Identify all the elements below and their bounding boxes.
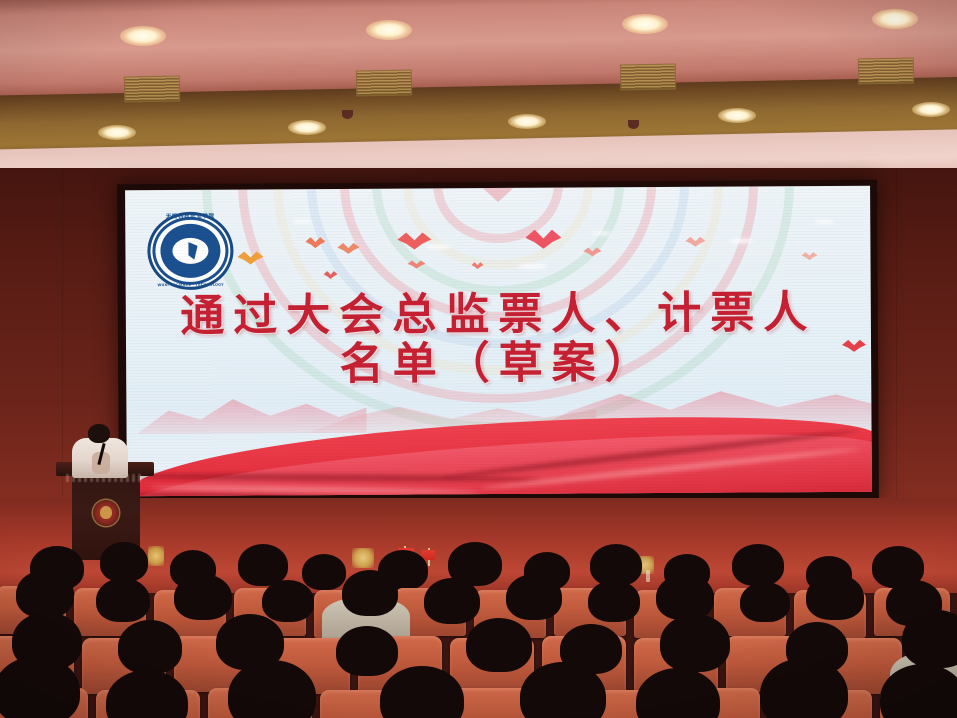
flying-dove-icon — [801, 252, 817, 260]
air-vent-grille — [620, 63, 676, 90]
seated-attendee — [466, 618, 532, 672]
cloud-wisp — [729, 238, 753, 243]
five-point-star-icon — [476, 186, 520, 202]
flying-dove-icon — [305, 237, 325, 248]
seated-attendee — [174, 574, 232, 620]
recessed-downlight — [622, 14, 668, 34]
presentation-slide: 无锡科技职业学院 WUXI · SCIENCE · TECHNOLOGY 通过大… — [125, 186, 872, 497]
recessed-downlight — [872, 9, 918, 29]
cloud-wisp — [518, 264, 548, 269]
cloud-wisp — [591, 231, 611, 235]
recessed-downlight — [120, 26, 166, 46]
cloud-wisp — [815, 220, 833, 224]
ceiling — [0, 0, 957, 182]
fire-sprinkler — [342, 110, 353, 119]
seated-attendee — [118, 620, 182, 674]
auditorium-scene: 无锡科技职业学院 WUXI · SCIENCE · TECHNOLOGY 通过大… — [0, 0, 957, 718]
audience-area — [0, 540, 957, 718]
flying-dove-icon — [324, 271, 338, 279]
seated-attendee — [806, 574, 864, 620]
flying-dove-icon — [337, 243, 359, 254]
air-vent-grille — [356, 69, 412, 96]
seated-attendee — [262, 580, 314, 622]
seated-attendee — [588, 580, 640, 622]
recessed-downlight — [718, 108, 756, 123]
air-vent-grille — [124, 75, 180, 102]
seated-attendee — [336, 626, 398, 676]
logo-bottom-text: WUXI · SCIENCE · TECHNOLOGY — [148, 283, 234, 287]
cloud-wisp — [293, 219, 311, 223]
seated-attendee — [732, 544, 784, 586]
recessed-downlight — [508, 114, 546, 129]
college-logo: 无锡科技职业学院 WUXI · SCIENCE · TECHNOLOGY — [147, 212, 233, 291]
air-vent-grille — [858, 57, 914, 84]
flying-dove-icon — [472, 262, 484, 269]
seated-attendee — [660, 614, 730, 672]
recessed-downlight — [912, 102, 950, 117]
seated-attendee — [506, 574, 562, 620]
fire-sprinkler — [628, 120, 639, 129]
recessed-downlight — [366, 20, 412, 40]
recessed-downlight — [98, 125, 136, 140]
logo-top-text: 无锡科技职业学院 — [147, 214, 233, 220]
flying-dove-icon — [525, 230, 561, 249]
seated-attendee — [342, 570, 398, 616]
recessed-downlight — [288, 120, 326, 135]
presenter-head — [88, 424, 110, 443]
flying-dove-icon — [408, 260, 426, 268]
seated-attendee — [656, 574, 714, 620]
led-screen-frame: 无锡科技职业学院 WUXI · SCIENCE · TECHNOLOGY 通过大… — [117, 180, 879, 505]
seated-attendee — [96, 578, 150, 622]
seated-attendee — [740, 582, 790, 622]
seated-attendee — [16, 570, 74, 618]
flying-dove-icon — [583, 247, 601, 256]
flying-dove-icon — [685, 237, 705, 247]
flying-dove-icon — [237, 251, 263, 264]
slide-title-line-1: 通过大会总监票人、计票人 — [126, 290, 871, 340]
seated-attendee — [302, 554, 346, 590]
seated-attendee — [424, 578, 480, 624]
college-crest-icon — [93, 500, 119, 526]
flying-dove-icon — [397, 232, 431, 249]
seated-attendee — [100, 542, 148, 582]
seated-attendee — [902, 610, 957, 668]
